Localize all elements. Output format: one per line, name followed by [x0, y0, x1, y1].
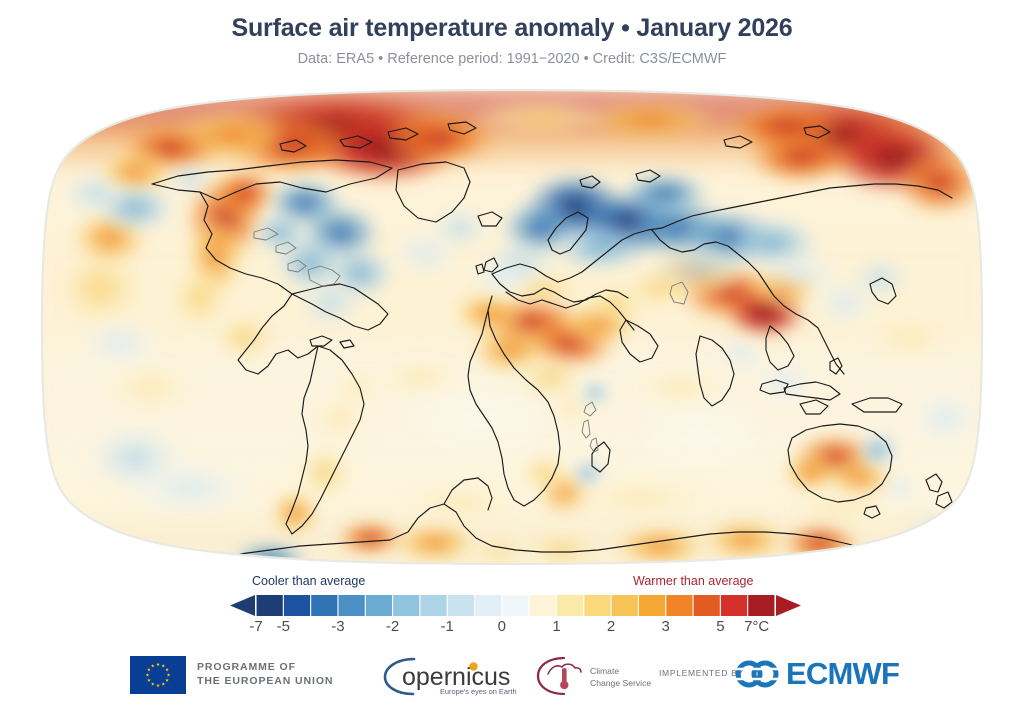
eu-star-icon	[156, 663, 160, 666]
ecmwf-rings-icon	[731, 657, 783, 691]
colorbar-tick-label: 3	[662, 618, 670, 635]
colorbar-bin	[448, 595, 474, 616]
thermometer-bulb-icon	[560, 681, 568, 689]
colorbar-bin	[475, 595, 501, 616]
c3s-text-line2: Change Service	[590, 678, 651, 688]
eu-text-line1: PROGRAMME OF	[197, 661, 333, 675]
header: Surface air temperature anomaly • Januar…	[0, 0, 1024, 67]
copernicus-logo: opernicus Europe's eyes on Earth	[380, 653, 520, 697]
colorbar-bin	[584, 595, 610, 616]
colorbar-bin	[694, 595, 720, 616]
eu-star-icon	[161, 682, 165, 685]
colorbar-bin	[420, 595, 446, 616]
copernicus-tagline: Europe's eyes on Earth	[440, 687, 517, 696]
colorbar-bin	[612, 595, 638, 616]
colorbar-low-arrow-shape	[230, 595, 255, 616]
colorbar-bins	[257, 595, 775, 616]
eu-text-line2: THE EUROPEAN UNION	[197, 675, 333, 689]
colorbar-bin	[257, 595, 283, 616]
eu-star-icon	[147, 668, 151, 671]
colorbar-bin	[284, 595, 310, 616]
c3s-logo: Climate Change Service	[534, 654, 652, 698]
c3s-arc-icon	[538, 658, 564, 694]
colorbar-end-labels: Cooler than average Warmer than average	[0, 574, 1024, 592]
colorbar-tick-label: -1	[441, 618, 454, 635]
colorbar-high-arrow	[776, 595, 801, 616]
colorbar-legend: Cooler than average Warmer than average …	[0, 574, 1024, 640]
warmer-than-average-label: Warmer than average	[633, 574, 753, 588]
footer-logos: PROGRAMME OF THE EUROPEAN UNION opernicu…	[0, 648, 1024, 720]
eu-star-icon	[146, 673, 150, 676]
colorbar-bin	[557, 595, 583, 616]
colorbar-bin	[721, 595, 747, 616]
colorbar-bin	[748, 595, 774, 616]
page-subtitle: Data: ERA5 • Reference period: 1991−2020…	[0, 43, 1024, 67]
colorbar-bin	[639, 595, 665, 616]
colorbar-tick-label: -3	[331, 618, 344, 635]
copernicus-dot-icon	[469, 662, 477, 670]
colorbar-tick-label: -2	[386, 618, 399, 635]
copernicus-logo-icon: opernicus Europe's eyes on Earth	[380, 653, 520, 697]
ecmwf-logo: ECMWF	[731, 656, 899, 692]
eu-star-icon	[161, 664, 165, 667]
colorbar-low-arrow	[230, 595, 255, 616]
eu-logo-text: PROGRAMME OF THE EUROPEAN UNION	[197, 661, 333, 689]
anomaly-map	[40, 88, 984, 566]
map-figure	[40, 88, 984, 566]
ecmwf-wordmark: ECMWF	[786, 656, 899, 692]
colorbar-tick-label: 1	[552, 618, 560, 635]
cooler-than-average-label: Cooler than average	[252, 574, 365, 588]
anomaly-field	[40, 88, 984, 566]
colorbar-tick-label: -7	[249, 618, 262, 635]
eu-star-icon	[165, 678, 169, 681]
colorbar-tick-labels: -7-5-3-2-1012357°C	[0, 618, 1024, 640]
eu-stars-icon	[130, 656, 186, 694]
colorbar-bin	[366, 595, 392, 616]
eu-star-icon	[151, 664, 155, 667]
eu-star-icon	[156, 684, 160, 687]
eu-star-icon	[151, 682, 155, 685]
c3s-logo-icon: Climate Change Service	[534, 654, 652, 698]
eu-logo: PROGRAMME OF THE EUROPEAN UNION	[130, 656, 333, 694]
colorbar-bin	[311, 595, 337, 616]
colorbar-bin	[393, 595, 419, 616]
colorbar-bin	[530, 595, 556, 616]
colorbar-tick-label: -5	[277, 618, 290, 635]
thermometer-stem-icon	[562, 668, 567, 683]
eu-flag-icon	[130, 656, 186, 694]
colorbar-tick-label: 5	[716, 618, 724, 635]
climate-map-page: Surface air temperature anomaly • Januar…	[0, 0, 1024, 720]
colorbar-high-arrow-shape	[776, 595, 801, 616]
colorbar-bin	[339, 595, 365, 616]
colorbar-tick-label: 2	[607, 618, 615, 635]
colorbar-bin	[502, 595, 528, 616]
page-title: Surface air temperature anomaly • Januar…	[0, 0, 1024, 43]
colorbar-tick-label: 0	[498, 618, 506, 635]
eu-star-icon	[167, 673, 171, 676]
c3s-text-line1: Climate	[590, 666, 619, 676]
colorbar-tick-label: 7°C	[744, 618, 769, 635]
eu-star-icon	[165, 668, 169, 671]
colorbar-bin	[666, 595, 692, 616]
colorbar-swatches	[0, 593, 1024, 619]
eu-star-icon	[147, 678, 151, 681]
